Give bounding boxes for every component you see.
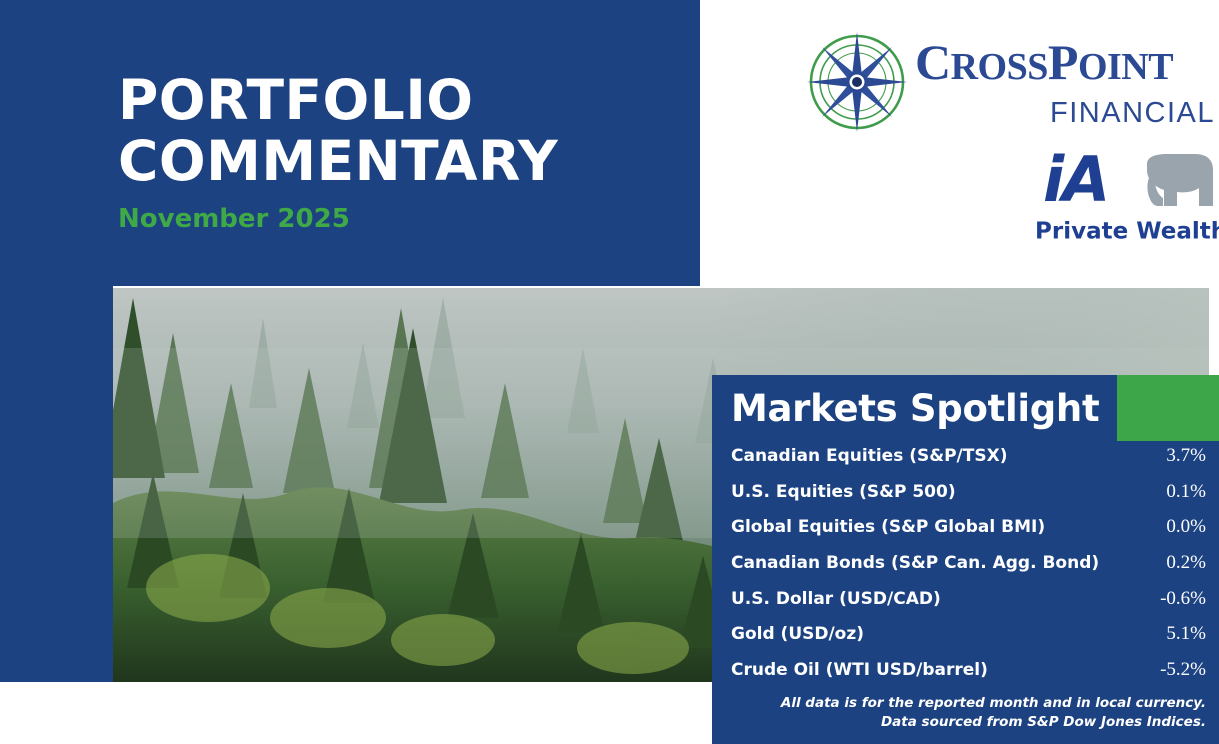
crosspoint-name: CROSSPOINT [915,34,1215,95]
row-value: -0.6% [1160,588,1206,610]
row-value: 0.1% [1166,481,1206,503]
table-row: Canadian Bonds (S&P Can. Agg. Bond) 0.2% [712,552,1219,588]
ia-tagline: Private Wealth™ [1035,214,1215,246]
compass-rose-icon [805,30,909,134]
elephant-icon [1133,154,1215,214]
title-line-2: COMMENTARY [118,131,678,192]
table-row: U.S. Equities (S&P 500) 0.1% [712,481,1219,517]
report-date: November 2025 [118,204,678,234]
markets-spotlight-title: Markets Spotlight [731,385,1099,433]
title-line-1: PORTFOLIO [118,70,678,131]
row-value: 3.7% [1166,445,1206,467]
green-accent-block [1117,375,1219,441]
crosspoint-tagline: FINANCIAL [915,97,1215,129]
cp-oint: OINT [1078,46,1173,88]
ia-private-wealth-logo: iA Private Wealth™ [1035,152,1215,252]
row-value: 0.0% [1166,516,1206,538]
cp-ross: ROSS [951,46,1048,88]
portfolio-commentary-page: PORTFOLIO COMMENTARY November 2025 [0,0,1219,744]
row-label: U.S. Dollar (USD/CAD) [731,589,941,609]
row-label: Global Equities (S&P Global BMI) [731,517,1045,537]
row-value: 5.1% [1166,623,1206,645]
row-label: Crude Oil (WTI USD/barrel) [731,660,988,680]
table-row: Crude Oil (WTI USD/barrel) -5.2% [712,659,1219,695]
row-value: 0.2% [1166,552,1206,574]
row-value: -5.2% [1160,659,1206,681]
footnote-line-1: All data is for the reported month and i… [781,694,1206,713]
table-row: Gold (USD/oz) 5.1% [712,623,1219,659]
header-banner: PORTFOLIO COMMENTARY November 2025 [0,0,700,286]
table-row: U.S. Dollar (USD/CAD) -0.6% [712,588,1219,624]
footnote-line-2: Data sourced from S&P Dow Jones Indices. [781,713,1206,732]
table-row: Canadian Equities (S&P/TSX) 3.7% [712,445,1219,481]
page-title: PORTFOLIO COMMENTARY November 2025 [118,70,678,234]
crosspoint-financial-logo: CROSSPOINT FINANCIAL [805,28,1215,140]
table-row: Global Equities (S&P Global BMI) 0.0% [712,516,1219,552]
cp-c: C [915,34,951,90]
row-label: Canadian Equities (S&P/TSX) [731,446,1007,466]
data-source-footnote: All data is for the reported month and i… [781,694,1206,732]
markets-spotlight-table: Canadian Equities (S&P/TSX) 3.7% U.S. Eq… [712,445,1219,695]
row-label: U.S. Equities (S&P 500) [731,482,956,502]
ia-wordmark: iA [1043,148,1108,212]
logo-zone: CROSSPOINT FINANCIAL iA Private Wea [700,0,1219,286]
row-label: Canadian Bonds (S&P Can. Agg. Bond) [731,553,1099,573]
cp-p: P [1048,34,1078,90]
row-label: Gold (USD/oz) [731,624,864,644]
ia-tagline-text: Private Wealth [1035,219,1219,245]
markets-spotlight-panel: Markets Spotlight Canadian Equities (S&P… [712,375,1219,744]
crosspoint-wordmark: CROSSPOINT FINANCIAL [915,34,1215,129]
left-navy-rail [0,286,113,682]
ia-logo-row: iA [1035,152,1215,216]
